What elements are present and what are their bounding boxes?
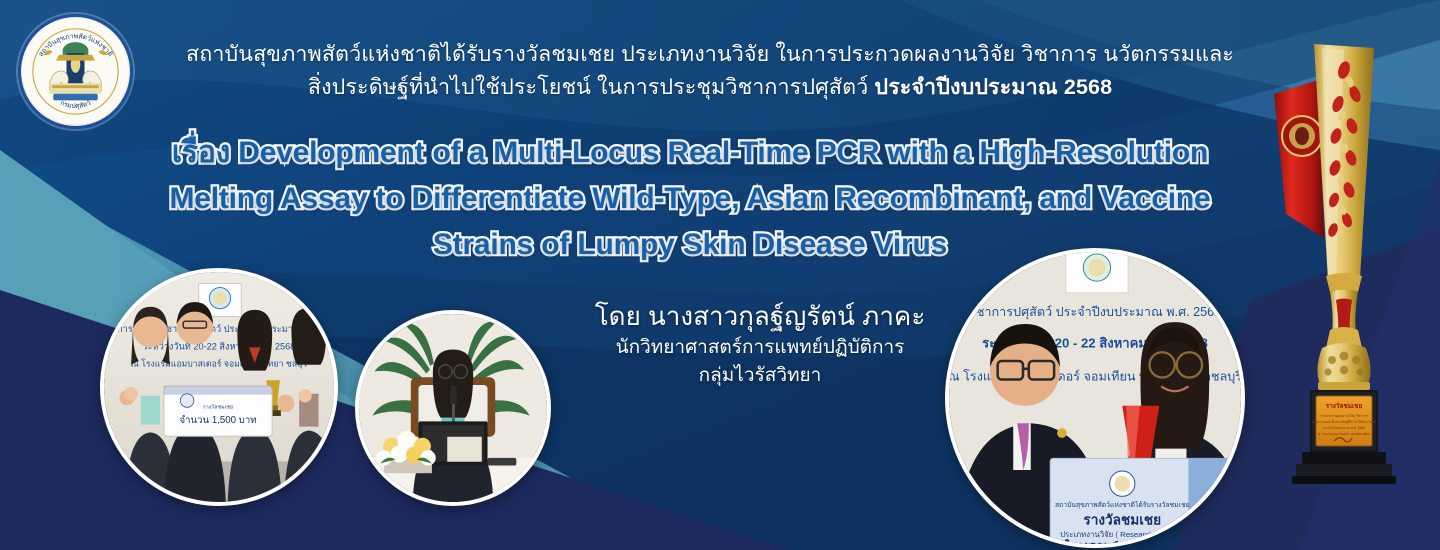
- svg-text:การประกวดผลงานวิจัย วิชาการ: การประกวดผลงานวิจัย วิชาการ: [1319, 414, 1368, 418]
- svg-text:นวัตกรรมและสิ่งประดิษฐ์ที่นำไป: นวัตกรรมและสิ่งประดิษฐ์ที่นำไปใช้ประโยชน…: [1312, 419, 1377, 424]
- headline-line-2: สิ่งประดิษฐ์ที่นำไปใช้ประโยชน์ ในการประช…: [150, 71, 1270, 104]
- svg-text:จำนวน 1,500 บาท: จำนวน 1,500 บาท: [179, 415, 256, 426]
- research-title-line-1: เรื่อง Development of a Multi-Locus Real…: [120, 130, 1260, 176]
- institute-logo: สถาบันสุขภาพสัตว์แห่งชาติ กรมปศุสัตว์: [18, 14, 133, 129]
- svg-text:สถาบันสุขภาพสัตว์แห่งชาติได้รั: สถาบันสุขภาพสัตว์แห่งชาติได้รับรางวัลชมเ…: [1055, 501, 1190, 509]
- svg-text:รางวัลชมเชย: รางวัลชมเชย: [203, 403, 233, 410]
- photo-award-ceremony-image: วิชาการปศุสัตว์ ประจำปีงบประมาณ พ.ศ. 256…: [949, 252, 1241, 544]
- research-title-line-2: Melting Assay to Differentiate Wild-Type…: [120, 176, 1260, 222]
- award-announcement-banner: สถาบันสุขภาพสัตว์แห่งชาติ กรมปศุสัตว์ สถ…: [0, 0, 1440, 550]
- presenter-group: กลุ่มไวรัสวิทยา: [540, 362, 980, 390]
- svg-text:ณ โรงแรมแอมบาสเดอร์ จอมเทียน พ: ณ โรงแรมแอมบาสเดอร์ จอมเทียน พัทยา: [1318, 432, 1371, 436]
- photo-presenter-speaking-image: [359, 314, 547, 502]
- headline-line-2-normal: สิ่งประดิษฐ์ที่นำไปใช้ประโยชน์ ในการประช…: [308, 75, 875, 99]
- presenter-name: โดย นางสาวกุลฐ์ญรัตน์ ภาคะ: [540, 298, 980, 334]
- svg-text:รางวัลชมเชย: รางวัลชมเชย: [1326, 402, 1363, 410]
- svg-text:ณ โรงแรมแอมบาสเดอร์ จอมเทียน พ: ณ โรงแรมแอมบาสเดอร์ จอมเทียน พัทยา ชลบุร…: [131, 359, 308, 370]
- headline-text: สถาบันสุขภาพสัตว์แห่งชาติได้รับรางวัลชมเ…: [150, 38, 1270, 104]
- award-trophy-image: รางวัลชมเชย การประกวดผลงานวิจัย วิชาการ …: [1252, 8, 1440, 548]
- presenter-role: นักวิทยาศาสตร์การแพทย์ปฏิบัติการ: [540, 334, 980, 362]
- photo-award-group-image: การประชุมวิชาการปศุสัตว์ ประจำปีงบประมาณ…: [104, 272, 334, 502]
- institute-emblem-icon: สถาบันสุขภาพสัตว์แห่งชาติ กรมปศุสัตว์: [21, 17, 130, 126]
- award-trophy: รางวัลชมเชย การประกวดผลงานวิจัย วิชาการ …: [1252, 8, 1440, 548]
- photo-award-ceremony: วิชาการปศุสัตว์ ประจำปีงบประมาณ พ.ศ. 256…: [945, 248, 1245, 548]
- svg-text:วิชาการปศุสัตว์ ประจำปีงบประมา: วิชาการปศุสัตว์ ประจำปีงบประมาณ พ.ศ. 256…: [969, 305, 1222, 320]
- svg-text:ประจำปีงบประมาณ พ.ศ. 2568: ประจำปีงบประมาณ พ.ศ. 2568: [1323, 426, 1365, 430]
- photo-presenter-speaking: [355, 310, 551, 506]
- svg-text:รางวัลชมเชย: รางวัลชมเชย: [1083, 513, 1161, 528]
- headline-fiscal-year: ประจำปีงบประมาณ 2568: [874, 75, 1112, 99]
- svg-text:ระหว่างวันที่ 20-22 สิงหาคม พ.: ระหว่างวันที่ 20-22 สิงหาคม พ.ศ. 2568: [143, 339, 296, 351]
- presenter-info: โดย นางสาวกุลฐ์ญรัตน์ ภาคะ นักวิทยาศาสตร…: [540, 298, 980, 390]
- headline-line-1: สถาบันสุขภาพสัตว์แห่งชาติได้รับรางวัลชมเ…: [150, 38, 1270, 71]
- photo-award-group: การประชุมวิชาการปศุสัตว์ ประจำปีงบประมาณ…: [100, 268, 338, 506]
